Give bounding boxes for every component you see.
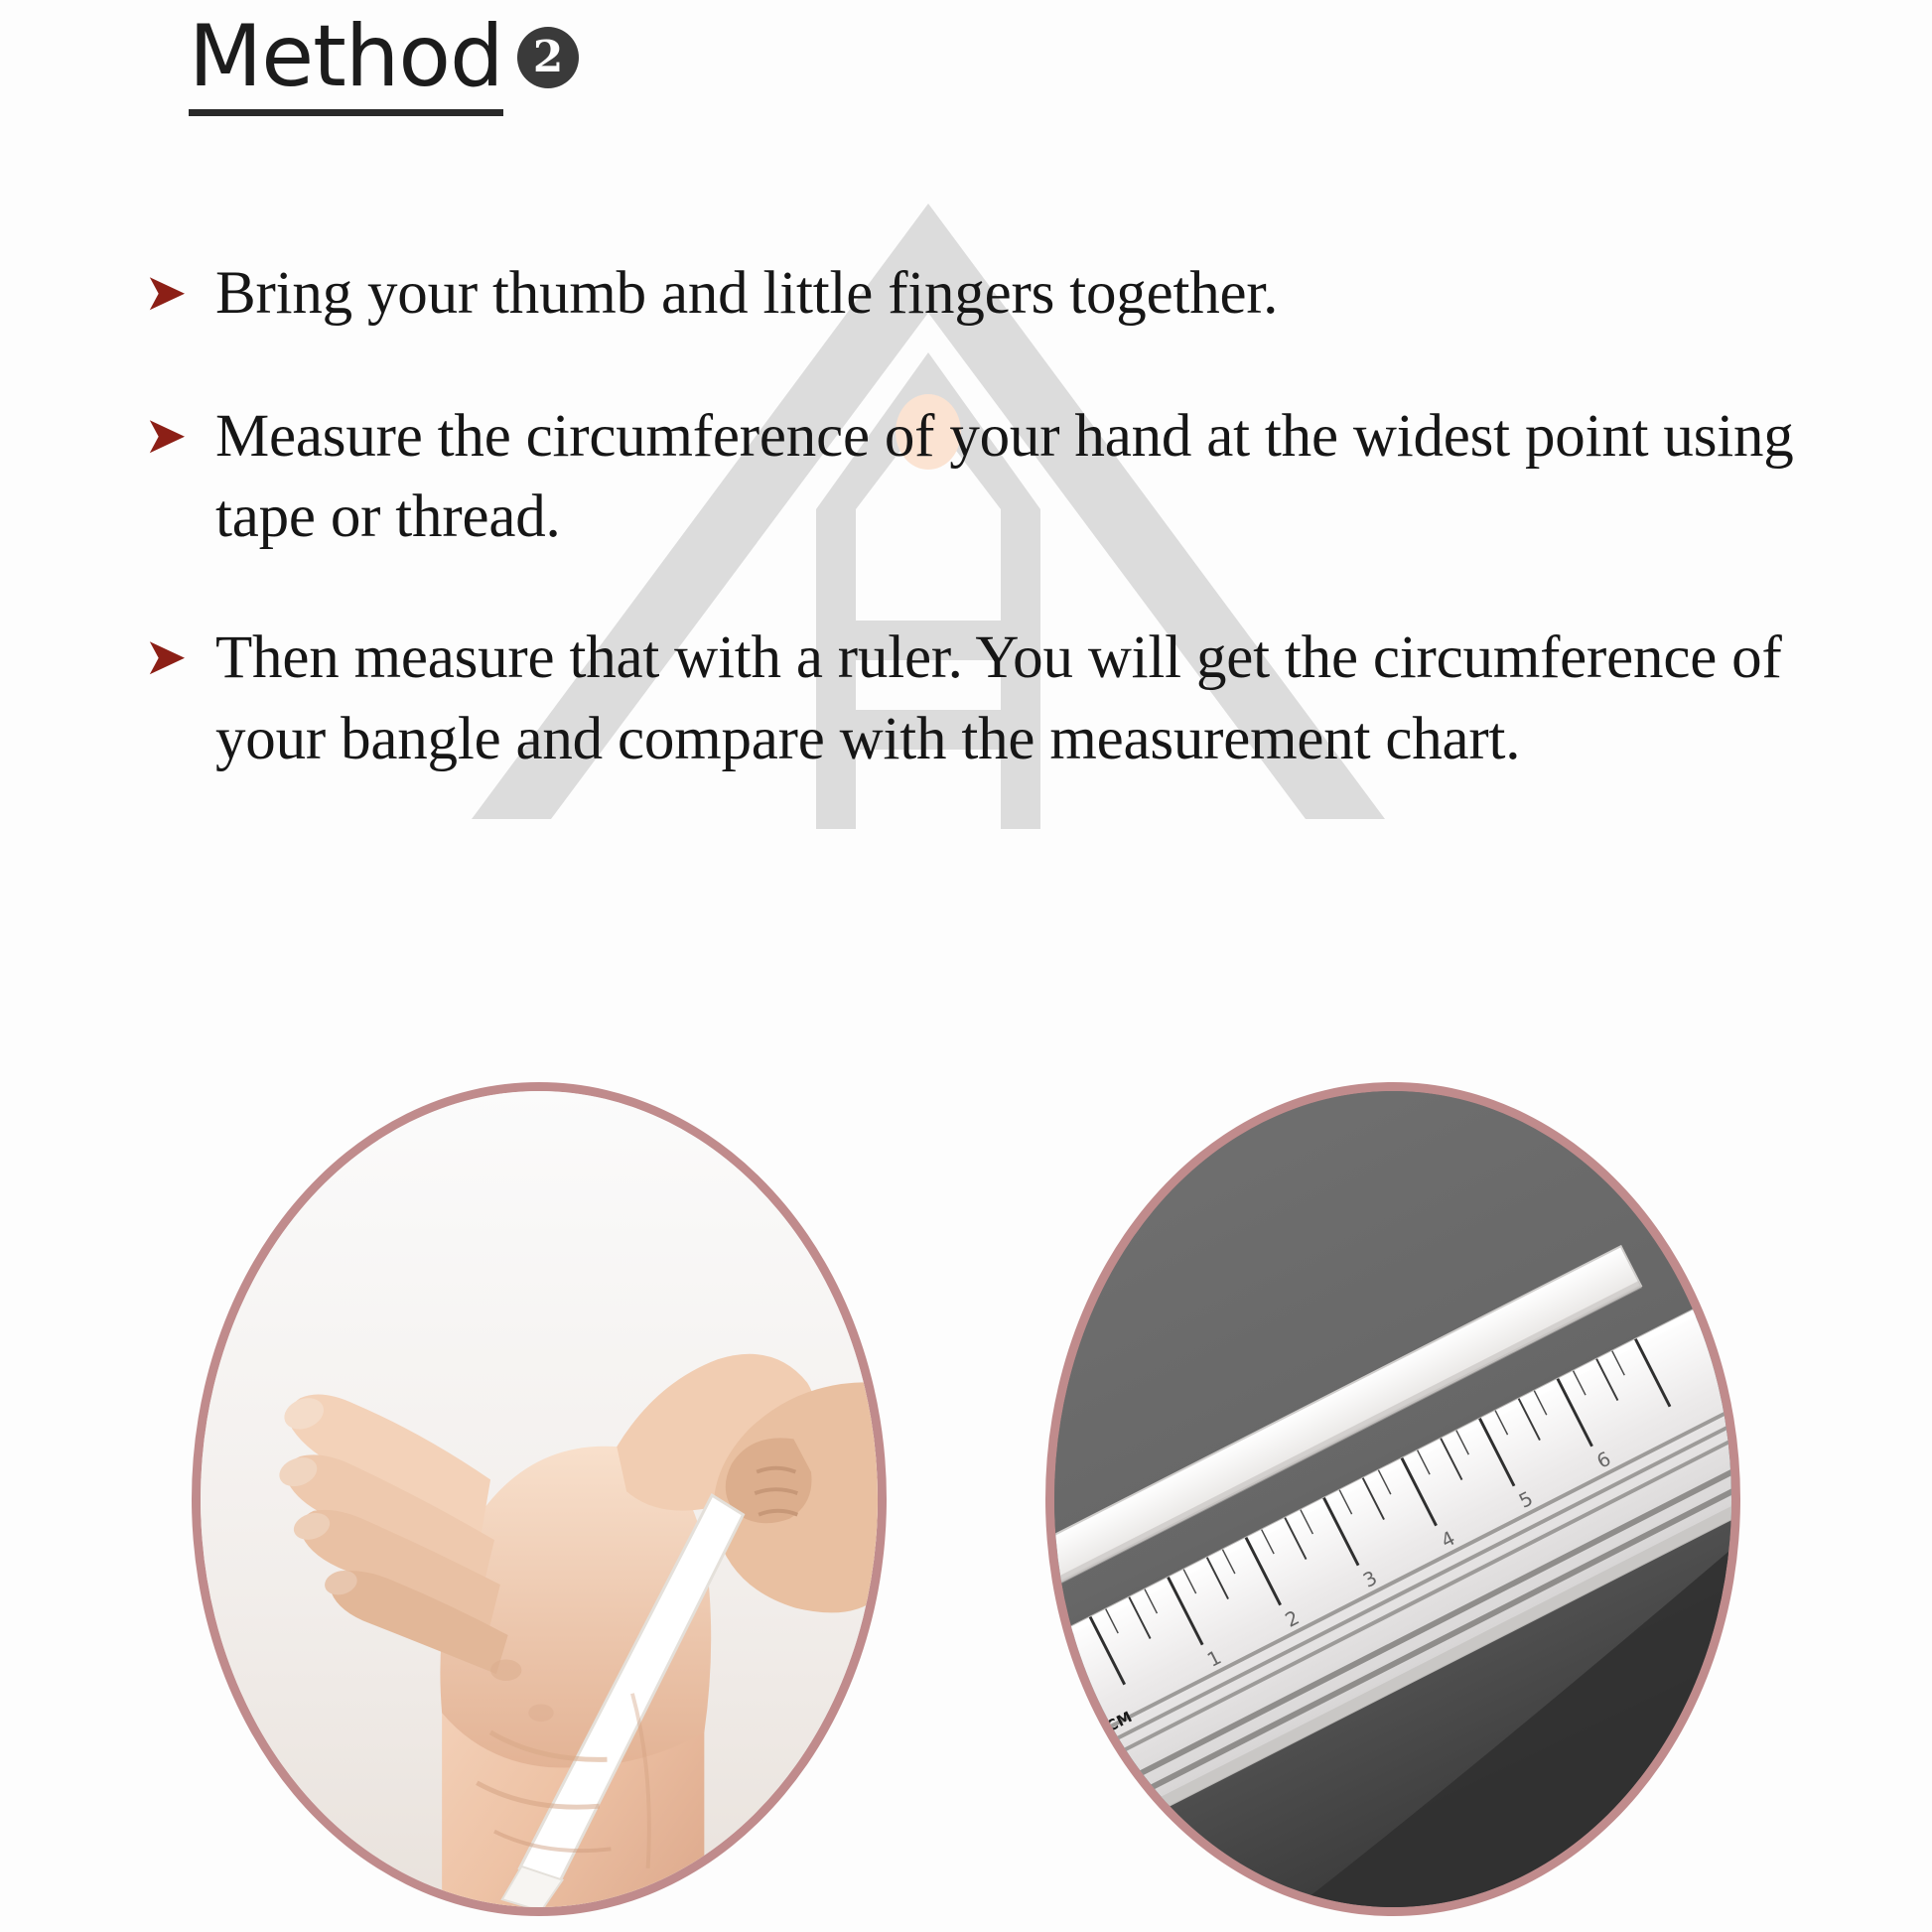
instruction-list: ➤ Bring your thumb and little fingers to…	[144, 253, 1871, 842]
arrowhead-bullet-icon: ➤	[144, 396, 215, 462]
list-item: ➤ Measure the circumference of your hand…	[144, 396, 1871, 558]
list-item: ➤ Bring your thumb and little fingers to…	[144, 253, 1871, 335]
list-item-label: Then measure that with a ruler. You will…	[215, 618, 1871, 779]
ruler-measurement-photo: 1 2 3 4 5 6 CM	[1045, 1082, 1740, 1916]
page-title-text: Method	[189, 12, 503, 116]
page-title: Method 2	[189, 12, 579, 116]
method-instruction-page: Method 2 ➤ Bring your thumb and little f…	[0, 0, 1932, 1932]
list-item-label: Bring your thumb and little fingers toge…	[215, 253, 1871, 335]
circled-number-two-icon: 2	[517, 27, 579, 88]
photo-gallery: 1 2 3 4 5 6 CM	[0, 1082, 1932, 1932]
arrowhead-bullet-icon: ➤	[144, 253, 215, 319]
arrowhead-bullet-icon: ➤	[144, 618, 215, 683]
list-item-label: Measure the circumference of your hand a…	[215, 396, 1871, 558]
list-item: ➤ Then measure that with a ruler. You wi…	[144, 618, 1871, 779]
hand-with-tape-photo	[192, 1082, 887, 1916]
